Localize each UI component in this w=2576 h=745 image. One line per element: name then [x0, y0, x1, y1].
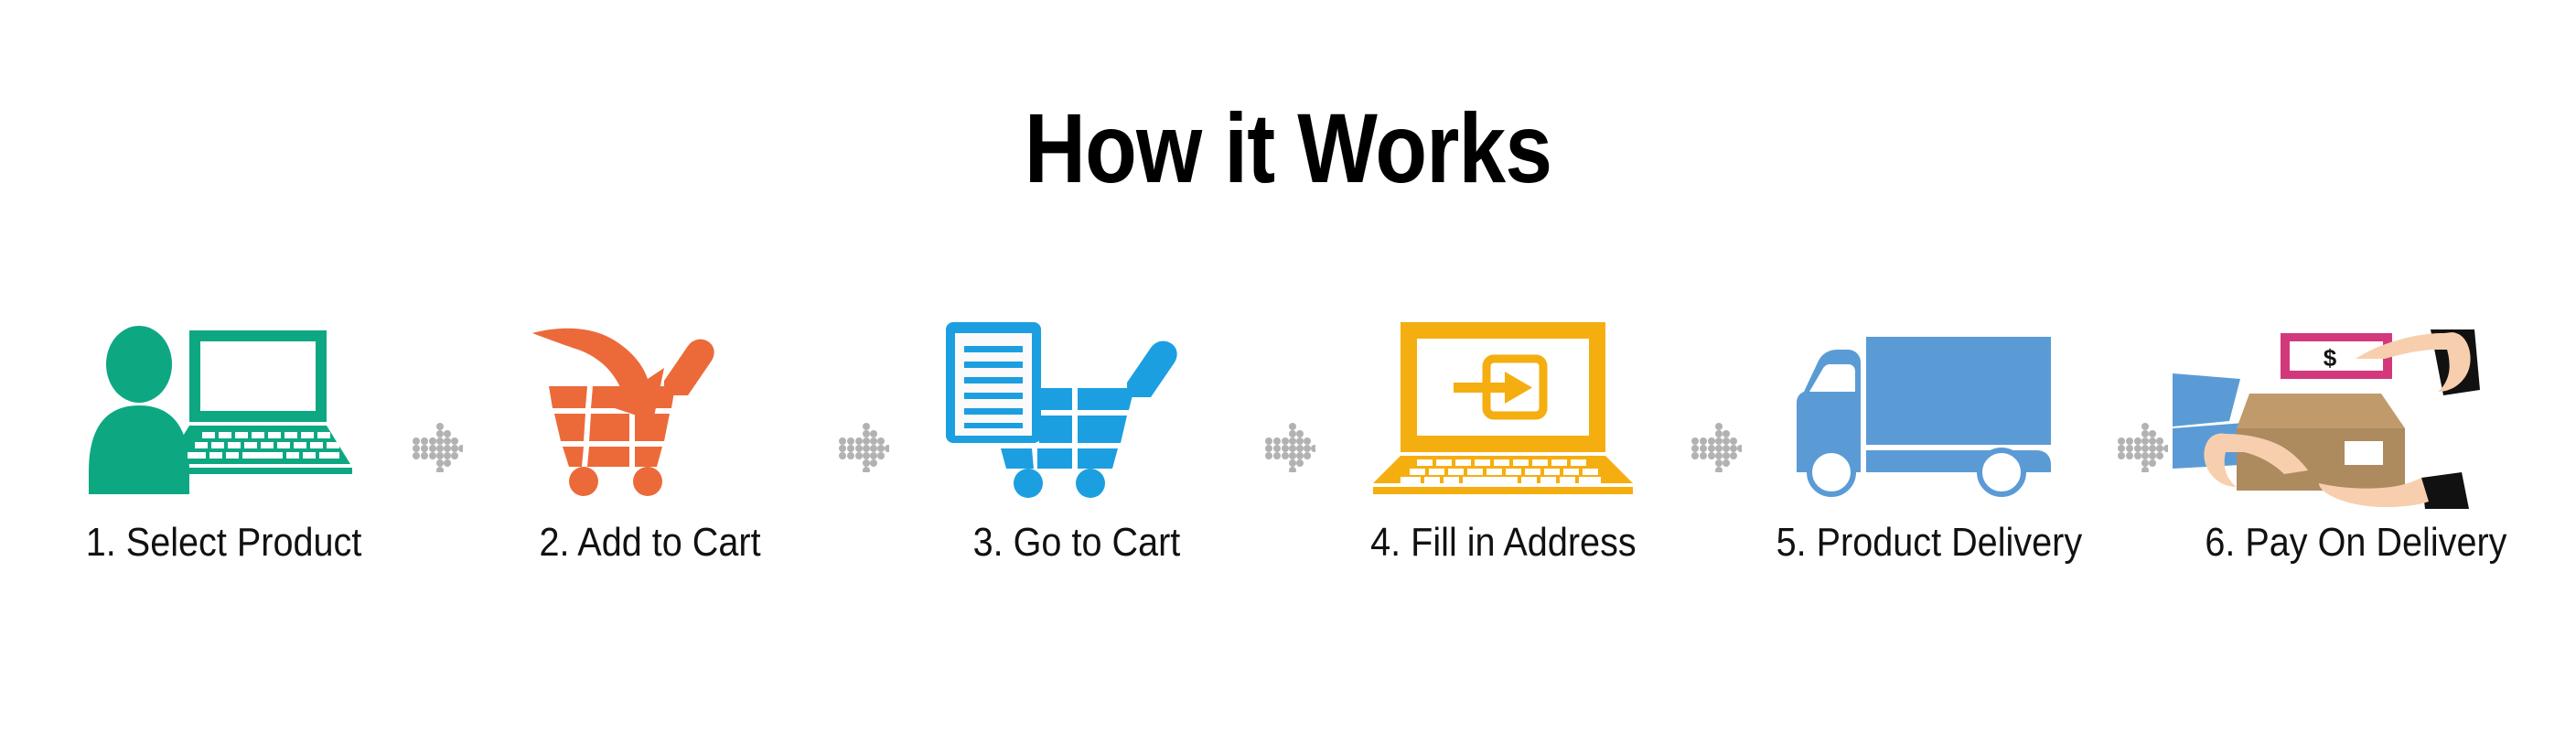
step-label: 4. Fill in Address — [1370, 522, 1637, 564]
step-label: 6. Pay On Delivery — [2205, 522, 2506, 564]
dotted-arrow-right-icon — [1264, 311, 1315, 494]
hands-exchanging-box-and-money-icon: $ — [2168, 311, 2543, 494]
step-label: 1. Select Product — [86, 522, 362, 564]
laptop-with-login-arrow-icon — [1315, 311, 1690, 494]
step-5-product-delivery[interactable]: 5. Product Delivery — [1742, 311, 2117, 564]
step-2-add-to-cart[interactable]: 2. Add to Cart — [463, 311, 838, 564]
step-label: 2. Add to Cart — [540, 522, 761, 564]
dotted-arrow-right-icon — [412, 311, 463, 494]
dotted-arrow-right-icon — [1690, 311, 1742, 494]
document-with-cart-icon — [889, 311, 1264, 494]
how-it-works-infographic: How it Works — [0, 0, 2576, 745]
shopping-cart-with-arrow-icon — [463, 311, 838, 494]
page-title: How it Works — [180, 99, 2396, 198]
dotted-arrow-right-icon — [838, 311, 889, 494]
svg-text:$: $ — [2324, 344, 2337, 372]
dotted-arrow-right-icon — [2117, 311, 2168, 494]
step-1-select-product[interactable]: 1. Select Product — [37, 311, 412, 564]
delivery-truck-icon — [1742, 311, 2117, 494]
step-3-go-to-cart[interactable]: 3. Go to Cart — [889, 311, 1264, 564]
steps-strip: 1. Select Product — [37, 311, 2543, 677]
person-with-laptop-icon — [37, 311, 412, 494]
step-label: 5. Product Delivery — [1776, 522, 2083, 564]
step-label: 3. Go to Cart — [973, 522, 1181, 564]
step-4-fill-in-address[interactable]: 4. Fill in Address — [1315, 311, 1690, 564]
step-6-pay-on-delivery[interactable]: $ — [2168, 311, 2543, 564]
